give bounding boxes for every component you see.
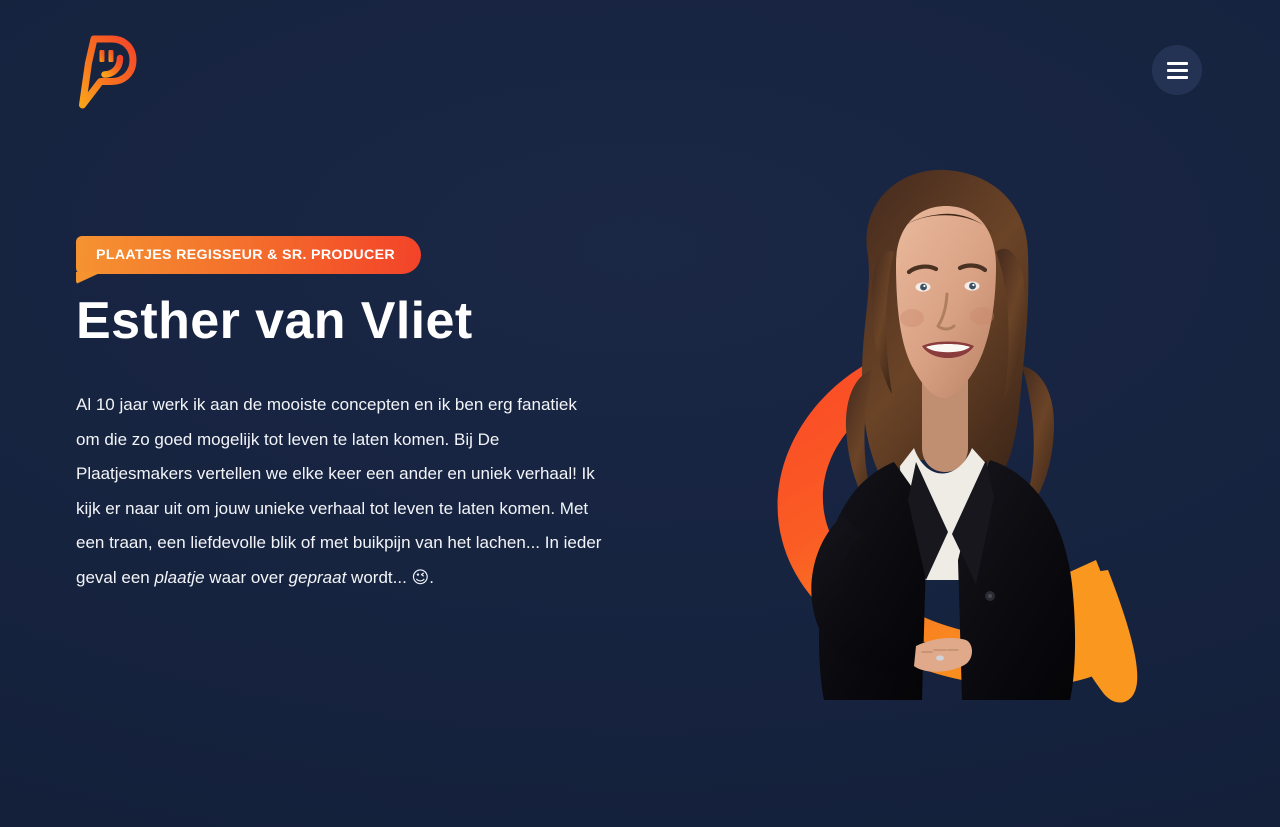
hero-visual bbox=[740, 160, 1160, 720]
site-header bbox=[0, 0, 1280, 140]
bio-italic-gepraat: gepraat bbox=[289, 568, 347, 587]
winking-face-emoji: 😉 bbox=[412, 568, 430, 588]
bio-part-3: wordt... bbox=[346, 568, 411, 587]
speech-bubble-smiley-logo-icon bbox=[76, 33, 138, 109]
logo-link[interactable] bbox=[76, 33, 138, 109]
bio-part-4: . bbox=[429, 568, 434, 587]
portrait-esther-van-vliet bbox=[776, 160, 1106, 700]
page-title: Esther van Vliet bbox=[76, 294, 636, 348]
bio-part-2: waar over bbox=[205, 568, 289, 587]
hamburger-bar-bottom bbox=[1167, 76, 1188, 79]
hamburger-menu-button[interactable] bbox=[1152, 45, 1202, 95]
bio-part-1: Al 10 jaar werk ik aan de mooiste concep… bbox=[76, 395, 601, 587]
role-badge: PLAATJES REGISSEUR & SR. PRODUCER bbox=[76, 236, 421, 274]
bio-italic-plaatje: plaatje bbox=[154, 568, 204, 587]
hamburger-menu-icon bbox=[1167, 62, 1188, 65]
hamburger-bar-middle bbox=[1167, 69, 1188, 72]
hero-bio-text: Al 10 jaar werk ik aan de mooiste concep… bbox=[76, 388, 604, 596]
hero-copy: PLAATJES REGISSEUR & SR. PRODUCER Esther… bbox=[76, 236, 636, 596]
